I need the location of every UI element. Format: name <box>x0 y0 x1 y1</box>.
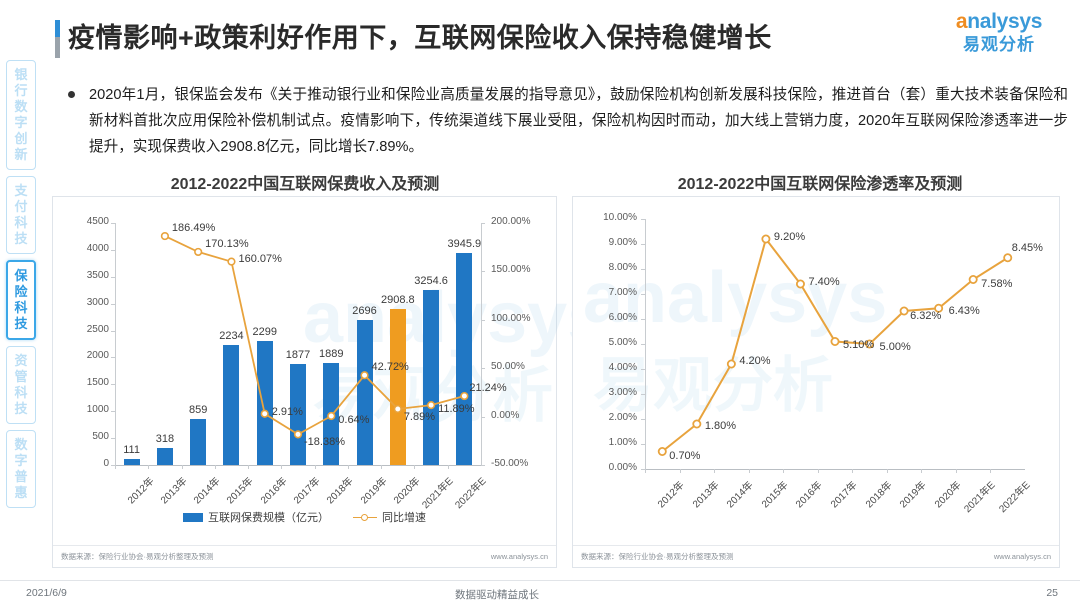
line-value-label: 0.70% <box>669 450 700 462</box>
line-data-point <box>428 402 435 409</box>
slide-page: 疫情影响+政策利好作用下，互联网保险收入保持稳健增长 analysys 易观分析… <box>0 0 1080 608</box>
line-data-point <box>659 448 666 455</box>
line-value-label: 5.10% <box>843 339 874 351</box>
sidebar-item-asset-mgmt-tech[interactable]: 资管科技 <box>6 346 36 424</box>
legend-bar-label: 互联网保费规模（亿元） <box>208 509 329 525</box>
legend-item-line-series: 同比增速 <box>353 509 426 525</box>
left-chart-legend: 互联网保费规模（亿元） 同比增速 <box>183 509 426 525</box>
line-data-point <box>228 258 235 265</box>
footer-slogan: 数据驱动精益成长 <box>455 587 539 602</box>
line-value-label: 11.89% <box>438 403 475 415</box>
right-chart-panel: analysys 易观分析 0.00%1.00%2.00%3.00%4.00%5… <box>572 196 1060 568</box>
bullet-paragraph-text: 2020年1月，银保监会发布《关于推动银行业和保险业高质量发展的指导意见》，鼓励… <box>89 82 1068 160</box>
line-value-label: 5.00% <box>880 341 911 353</box>
legend-line-swatch <box>353 513 377 522</box>
growth-rate-line <box>53 197 558 537</box>
logo-chinese-name: 易观分析 <box>940 34 1058 55</box>
legend-line-label: 同比增速 <box>382 509 426 525</box>
line-data-point <box>162 233 169 240</box>
left-chart-title: 2012-2022中国互联网保费收入及预测 <box>45 170 565 194</box>
sidebar-item-char: 技 <box>10 316 32 332</box>
line-value-label: 2.91% <box>272 406 303 418</box>
left-plot-area: 050010001500200025003000350040004500-50.… <box>53 197 558 537</box>
sidebar-item-char: 资 <box>9 353 33 369</box>
line-data-point <box>461 393 468 400</box>
line-value-label: 7.40% <box>808 276 839 288</box>
left-source-site: www.analysys.cn <box>491 552 548 561</box>
title-accent-bar <box>55 20 60 58</box>
footer-date: 2021/6/9 <box>26 587 67 599</box>
sidebar-item-char: 付 <box>9 199 33 215</box>
legend-item-bar-series: 互联网保费规模（亿元） <box>183 509 329 525</box>
line-value-label: 9.20% <box>774 231 805 243</box>
page-title: 疫情影响+政策利好作用下，互联网保险收入保持稳健增长 <box>68 18 772 58</box>
category-sidebar: 银行数字创新 支付科技 保险科技 资管科技 数字普惠 <box>6 60 38 514</box>
line-data-point <box>693 420 700 427</box>
sidebar-item-char: 险 <box>10 284 32 300</box>
line-value-label: 7.89% <box>404 411 435 423</box>
penetration-rate-line <box>573 197 1061 537</box>
sidebar-item-char: 惠 <box>9 485 33 501</box>
analysys-logo: analysys 易观分析 <box>940 10 1058 60</box>
logo-a-glyph: a <box>956 10 967 33</box>
sidebar-item-char: 技 <box>9 401 33 417</box>
line-data-point <box>295 431 302 438</box>
sidebar-item-char: 行 <box>9 83 33 99</box>
footer-page-number: 25 <box>1046 587 1058 599</box>
line-value-label: 160.07% <box>238 253 281 265</box>
line-value-label: 4.20% <box>739 355 770 367</box>
line-value-label: 186.49% <box>172 222 215 234</box>
sidebar-item-char: 银 <box>9 67 33 83</box>
line-data-point <box>762 235 769 242</box>
sidebar-item-char: 保 <box>10 268 32 284</box>
line-value-label: 8.45% <box>1012 242 1043 254</box>
line-data-point <box>970 276 977 283</box>
line-data-point <box>395 406 402 413</box>
sidebar-item-char: 科 <box>9 385 33 401</box>
logo-word-rest: nalysys <box>967 10 1042 33</box>
sidebar-item-char: 数 <box>9 437 33 453</box>
right-source-text: 数据来源：保险行业协会·易观分析整理及预测 <box>581 551 734 562</box>
legend-bar-swatch <box>183 513 203 522</box>
left-chart-panel: analysys 易观分析 05001000150020002500300035… <box>52 196 557 568</box>
line-data-point <box>261 410 268 417</box>
line-value-label: -18.38% <box>304 436 345 448</box>
line-data-point <box>328 413 335 420</box>
line-value-label: 7.58% <box>981 278 1012 290</box>
right-panel-source: 数据来源：保险行业协会·易观分析整理及预测 www.analysys.cn <box>573 545 1059 567</box>
slide-header: 疫情影响+政策利好作用下，互联网保险收入保持稳健增长 analysys 易观分析 <box>0 0 1080 70</box>
line-value-label: 0.64% <box>338 414 369 426</box>
sidebar-item-char: 普 <box>9 469 33 485</box>
line-data-point <box>728 360 735 367</box>
sidebar-item-char: 创 <box>9 131 33 147</box>
slide-footer: 2021/6/9 数据驱动精益成长 25 <box>0 580 1080 608</box>
sidebar-item-bank-digital[interactable]: 银行数字创新 <box>6 60 36 170</box>
sidebar-item-char: 新 <box>9 147 33 163</box>
right-chart-title: 2012-2022中国互联网保险渗透率及预测 <box>570 170 1070 194</box>
sidebar-item-char: 数 <box>9 99 33 115</box>
right-plot-area: 0.00%1.00%2.00%3.00%4.00%5.00%6.00%7.00%… <box>573 197 1061 537</box>
line-value-label: 21.24% <box>469 382 506 394</box>
left-panel-source: 数据来源：保险行业协会·易观分析整理及预测 www.analysys.cn <box>53 545 556 567</box>
line-data-point <box>195 249 202 256</box>
line-value-label: 6.32% <box>910 310 941 322</box>
line-value-label: 42.72% <box>372 361 409 373</box>
bullet-paragraph-row: 2020年1月，银保监会发布《关于推动银行业和保险业高质量发展的指导意见》，鼓励… <box>68 82 1068 160</box>
line-data-point <box>831 338 838 345</box>
sidebar-item-char: 字 <box>9 115 33 131</box>
line-data-point <box>361 372 368 379</box>
sidebar-item-payment-tech[interactable]: 支付科技 <box>6 176 36 254</box>
line-value-label: 170.13% <box>205 238 248 250</box>
line-data-point <box>797 280 804 287</box>
line-value-label: 1.80% <box>705 420 736 432</box>
sidebar-item-insurance-tech[interactable]: 保险科技 <box>6 260 36 340</box>
right-source-site: www.analysys.cn <box>994 552 1051 561</box>
logo-wordmark: analysys <box>940 10 1058 34</box>
left-source-text: 数据来源：保险行业协会·易观分析整理及预测 <box>61 551 214 562</box>
sidebar-item-char: 科 <box>10 300 32 316</box>
bullet-dot-icon <box>68 91 75 98</box>
line-value-label: 6.43% <box>949 305 980 317</box>
sidebar-item-char: 支 <box>9 183 33 199</box>
line-data-point <box>1004 254 1011 261</box>
line-data-point <box>900 307 907 314</box>
sidebar-item-char: 技 <box>9 231 33 247</box>
sidebar-item-char: 字 <box>9 453 33 469</box>
sidebar-item-char: 管 <box>9 369 33 385</box>
sidebar-item-digital-inclusive[interactable]: 数字普惠 <box>6 430 36 508</box>
sidebar-item-char: 科 <box>9 215 33 231</box>
